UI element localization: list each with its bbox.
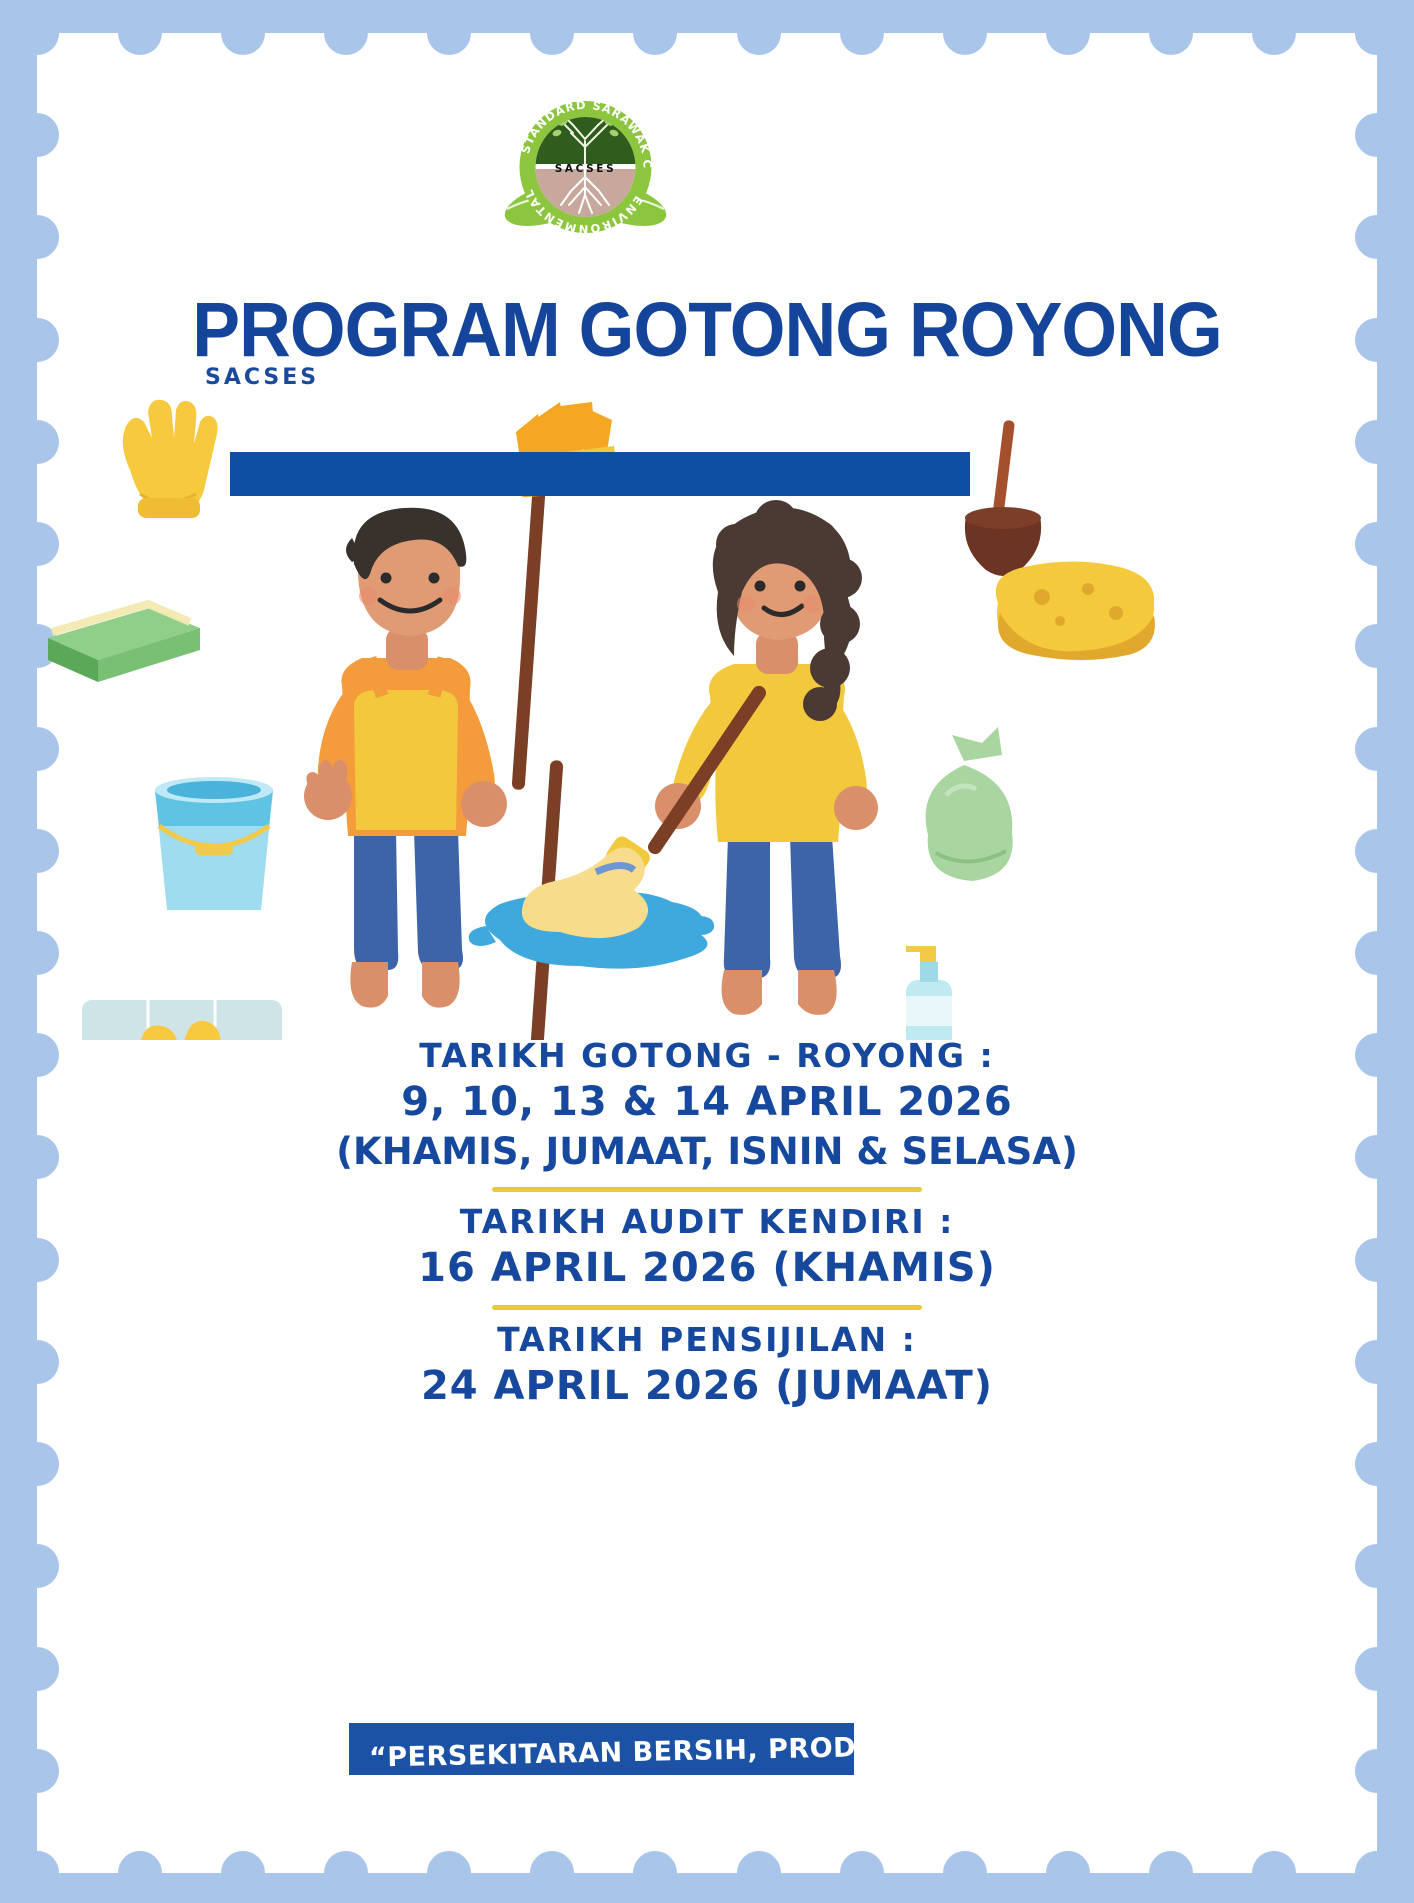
audit-label: TARIKH AUDIT KENDIRI : bbox=[0, 1201, 1414, 1243]
perforation-dot bbox=[15, 1851, 59, 1895]
bucket-icon bbox=[155, 777, 273, 910]
perforation-dot bbox=[118, 11, 162, 55]
perforation-dot bbox=[221, 11, 265, 55]
perforation-dot bbox=[1355, 1442, 1399, 1486]
perforation-dot bbox=[1149, 1851, 1193, 1895]
gotong-royong-date: 9, 10, 13 & 14 APRIL 2026 bbox=[0, 1077, 1414, 1128]
perforation-dot bbox=[324, 1851, 368, 1895]
sponge-icon-green bbox=[48, 604, 200, 682]
perforation-dot bbox=[1252, 1851, 1296, 1895]
perforation-dot bbox=[1046, 11, 1090, 55]
garbage-bag-icon bbox=[926, 727, 1013, 881]
perforation-dot bbox=[118, 1851, 162, 1895]
page-subtitle: SACSES bbox=[205, 365, 319, 390]
slogan-banner: “PERSEKITARAN BERSIH, PRODUKTIVITI MENIN… bbox=[349, 1723, 854, 1775]
perforation-dot bbox=[943, 1851, 987, 1895]
soap-dispenser-icon bbox=[906, 946, 952, 1040]
perforation-dot bbox=[840, 11, 884, 55]
perforation-dot bbox=[15, 11, 59, 55]
perforation-dot bbox=[324, 11, 368, 55]
divider-2 bbox=[492, 1305, 922, 1310]
perforation-dot bbox=[1149, 11, 1193, 55]
perforation-dot bbox=[427, 11, 471, 55]
perforation-dot bbox=[530, 1851, 574, 1895]
glove-icon-top-left bbox=[123, 400, 218, 518]
perforation-dot bbox=[427, 1851, 471, 1895]
logo-acronym: SACSES bbox=[555, 163, 617, 175]
pensijilan-date: 24 APRIL 2026 (JUMAAT) bbox=[0, 1361, 1414, 1412]
gotong-royong-label: TARIKH GOTONG - ROYONG : bbox=[0, 1035, 1414, 1077]
perforation-dot bbox=[943, 11, 987, 55]
perforation-dot bbox=[840, 1851, 884, 1895]
glove-icon-bottom-left bbox=[82, 1000, 282, 1040]
slogan-text: “PERSEKITARAN BERSIH, PRODUKTIVITI MENIN… bbox=[349, 1725, 854, 1774]
divider-1 bbox=[492, 1187, 922, 1192]
page-title: PROGRAM GOTONG ROYONG bbox=[49, 286, 1364, 375]
perforation-dot bbox=[1355, 11, 1399, 55]
perforation-dot bbox=[15, 1647, 59, 1691]
perforation-dot bbox=[221, 1851, 265, 1895]
perforation-dot bbox=[1355, 1647, 1399, 1691]
perforation-dot bbox=[1252, 11, 1296, 55]
title-accent-bar bbox=[230, 452, 970, 496]
perforation-dot bbox=[1355, 1851, 1399, 1895]
gotong-royong-days: (KHAMIS, JUMAAT, ISNIN & SELASA) bbox=[0, 1128, 1414, 1175]
perforation-dot bbox=[1355, 113, 1399, 157]
perforation-dot bbox=[15, 113, 59, 157]
perforation-dot bbox=[737, 11, 781, 55]
perforation-dot bbox=[15, 1544, 59, 1588]
perforation-dot bbox=[633, 1851, 677, 1895]
perforation-dot bbox=[15, 1442, 59, 1486]
sponge-icon-orange bbox=[996, 561, 1155, 660]
schedule-info: TARIKH GOTONG - ROYONG : 9, 10, 13 & 14 … bbox=[0, 1035, 1414, 1413]
perforation-dot bbox=[737, 1851, 781, 1895]
perforation-dot bbox=[1355, 1749, 1399, 1793]
perforation-dot bbox=[1355, 1544, 1399, 1588]
audit-date: 16 APRIL 2026 (KHAMIS) bbox=[0, 1243, 1414, 1294]
perforation-dot bbox=[15, 1749, 59, 1793]
sacses-logo: STANDARD SARAWAK CIVIL SERVICE ENVIRONME… bbox=[493, 95, 678, 255]
perforation-dot bbox=[1046, 1851, 1090, 1895]
pensijilan-label: TARIKH PENSIJILAN : bbox=[0, 1319, 1414, 1361]
perforation-dot bbox=[1355, 215, 1399, 259]
plunger-icon bbox=[965, 420, 1041, 576]
